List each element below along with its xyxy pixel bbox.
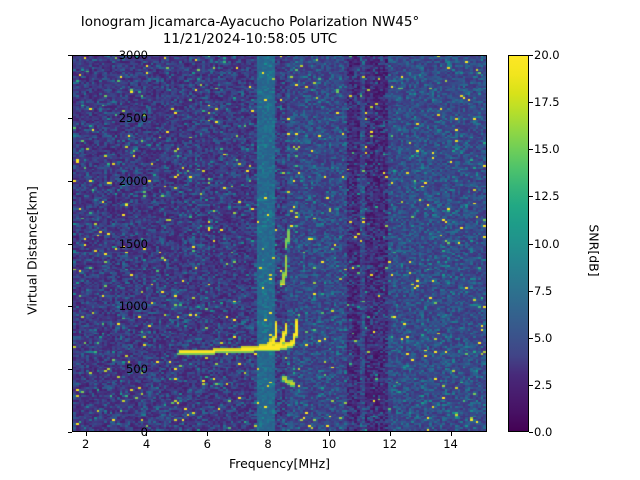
x-tick-mark [451,432,452,436]
y-tick-mark [68,118,72,119]
colorbar-tick-mark [529,244,533,245]
ionogram-figure: Ionogram Jicamarca-Ayacucho Polarization… [0,0,640,480]
x-tick-mark [268,432,269,436]
x-tick-label: 4 [143,437,150,451]
y-tick-label: 3000 [119,48,148,62]
x-tick-mark [207,432,208,436]
colorbar-tick-mark [529,102,533,103]
colorbar-tick-mark [529,432,533,433]
x-axis-label: Frequency[MHz] [72,456,487,471]
colorbar-tick-mark [529,385,533,386]
colorbar-tick-mark [529,338,533,339]
x-tick-label: 14 [443,437,458,451]
colorbar-tick-mark [529,55,533,56]
y-tick-mark [68,244,72,245]
x-tick-label: 8 [264,437,271,451]
x-tick-mark [86,432,87,436]
colorbar-tick-label: 17.5 [534,95,560,109]
y-tick-mark [68,306,72,307]
colorbar-tick-label: 10.0 [534,237,560,251]
y-tick-label: 2500 [119,111,148,125]
x-tick-mark [146,432,147,436]
colorbar-tick-label: 12.5 [534,189,560,203]
colorbar-viridis [508,55,529,432]
x-tick-label: 10 [322,437,337,451]
colorbar-tick-mark [529,291,533,292]
colorbar-tick-label: 20.0 [534,48,560,62]
colorbar-label: SNR[dB] [587,161,602,341]
colorbar-tick-mark [529,149,533,150]
x-tick-label: 12 [382,437,397,451]
x-tick-label: 6 [204,437,211,451]
y-tick-label: 2000 [119,174,148,188]
colorbar-tick-label: 5.0 [534,331,552,345]
colorbar-tick-label: 0.0 [534,425,552,439]
colorbar-tick-label: 15.0 [534,142,560,156]
y-tick-label: 1500 [119,237,148,251]
colorbar-tick-label: 2.5 [534,378,552,392]
x-tick-mark [390,432,391,436]
colorbar-tick-label: 7.5 [534,284,552,298]
y-tick-mark [68,181,72,182]
x-tick-mark [329,432,330,436]
colorbar-tick-mark [529,196,533,197]
chart-title: Ionogram Jicamarca-Ayacucho Polarization… [0,14,500,48]
chart-title-line1: Ionogram Jicamarca-Ayacucho Polarization… [81,14,419,30]
y-tick-mark [68,432,72,433]
y-tick-mark [68,55,72,56]
y-tick-mark [68,369,72,370]
y-axis-label: Virtual Distance[km] [25,151,40,351]
y-tick-label: 1000 [119,299,148,313]
chart-title-line2: 11/21/2024-10:58:05 UTC [163,31,337,47]
x-tick-label: 2 [82,437,89,451]
y-tick-label: 500 [126,362,148,376]
